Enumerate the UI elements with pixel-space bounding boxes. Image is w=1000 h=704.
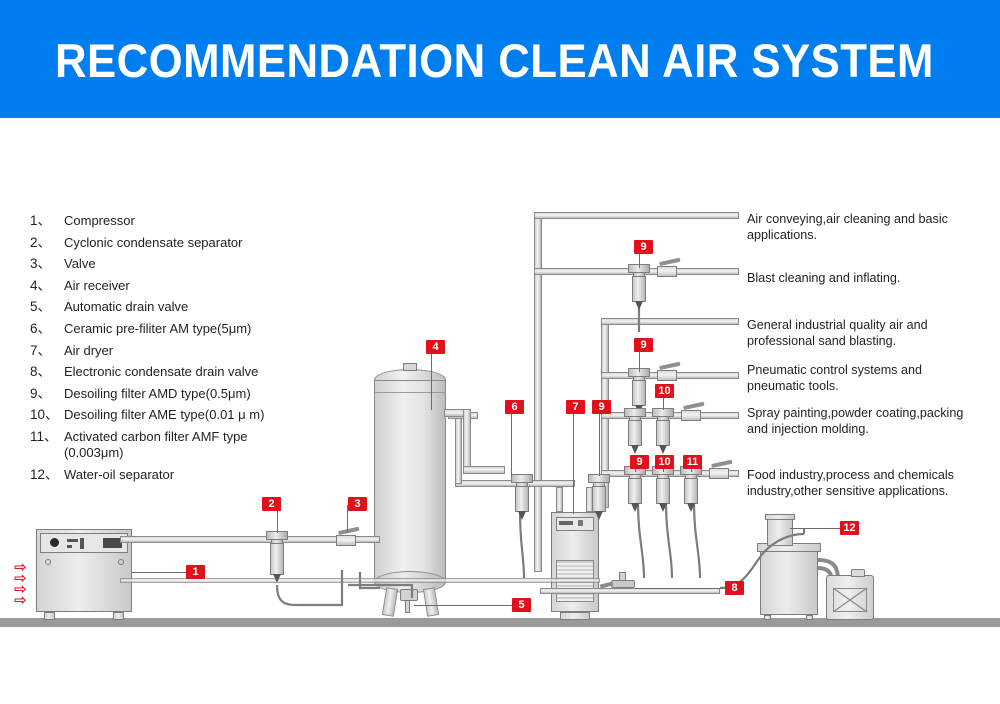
separator-drain-tip bbox=[273, 574, 281, 583]
badge-11: 11 bbox=[683, 455, 702, 469]
valve-body bbox=[709, 468, 729, 479]
filter-bowl bbox=[684, 478, 698, 504]
leader-1 bbox=[132, 572, 192, 573]
leader-9-dryer bbox=[599, 412, 600, 476]
badge-9-level4: 9 bbox=[634, 338, 653, 352]
badge-1: 1 bbox=[186, 565, 205, 579]
badge-3: 3 bbox=[348, 497, 367, 511]
leader-8 bbox=[635, 588, 723, 589]
valve-body bbox=[657, 266, 677, 277]
leader-5 bbox=[414, 605, 514, 606]
filter-drain-tip bbox=[659, 445, 667, 454]
badge-9-dryer: 9 bbox=[592, 400, 611, 414]
badge-10-level6: 10 bbox=[655, 455, 674, 469]
leader-7 bbox=[573, 410, 574, 514]
filter-bowl bbox=[592, 486, 606, 512]
prefilter-drain-tip bbox=[518, 511, 526, 520]
filter-bowl bbox=[632, 380, 646, 406]
filter-drain-tip bbox=[687, 503, 695, 512]
filter-bowl bbox=[632, 276, 646, 302]
badge-9-level6: 9 bbox=[630, 455, 649, 469]
badge-5: 5 bbox=[512, 598, 531, 612]
leader-6 bbox=[511, 410, 512, 476]
filter-bowl bbox=[628, 478, 642, 504]
badge-7: 7 bbox=[566, 400, 585, 414]
valve-body bbox=[657, 370, 677, 381]
drain-tubing bbox=[0, 0, 1000, 704]
leader-10-level5 bbox=[663, 396, 664, 410]
leader-12 bbox=[790, 528, 842, 529]
filter-drain-tip bbox=[635, 301, 643, 310]
filter-drain-tip bbox=[631, 445, 639, 454]
filter-drain-tip bbox=[595, 511, 603, 520]
leader-9-level4 bbox=[639, 350, 640, 372]
leader-4 bbox=[431, 350, 432, 410]
badge-4: 4 bbox=[426, 340, 445, 354]
badge-6: 6 bbox=[505, 400, 524, 414]
badge-10-level5: 10 bbox=[655, 384, 674, 398]
filter-drain-tip bbox=[631, 503, 639, 512]
badge-12: 12 bbox=[840, 521, 859, 535]
badge-9-level2: 9 bbox=[634, 240, 653, 254]
valve-body bbox=[681, 410, 701, 421]
separator-bowl bbox=[270, 543, 284, 575]
badge-2: 2 bbox=[262, 497, 281, 511]
diagram-page: RECOMMENDATION CLEAN AIR SYSTEM 1、 Compr… bbox=[0, 0, 1000, 704]
filter-bowl bbox=[628, 420, 642, 446]
prefilter-bowl bbox=[515, 486, 529, 512]
valve-body bbox=[336, 535, 356, 546]
badge-8: 8 bbox=[725, 581, 744, 595]
filter-bowl bbox=[656, 420, 670, 446]
filter-drain-tip bbox=[659, 503, 667, 512]
filter-bowl bbox=[656, 478, 670, 504]
